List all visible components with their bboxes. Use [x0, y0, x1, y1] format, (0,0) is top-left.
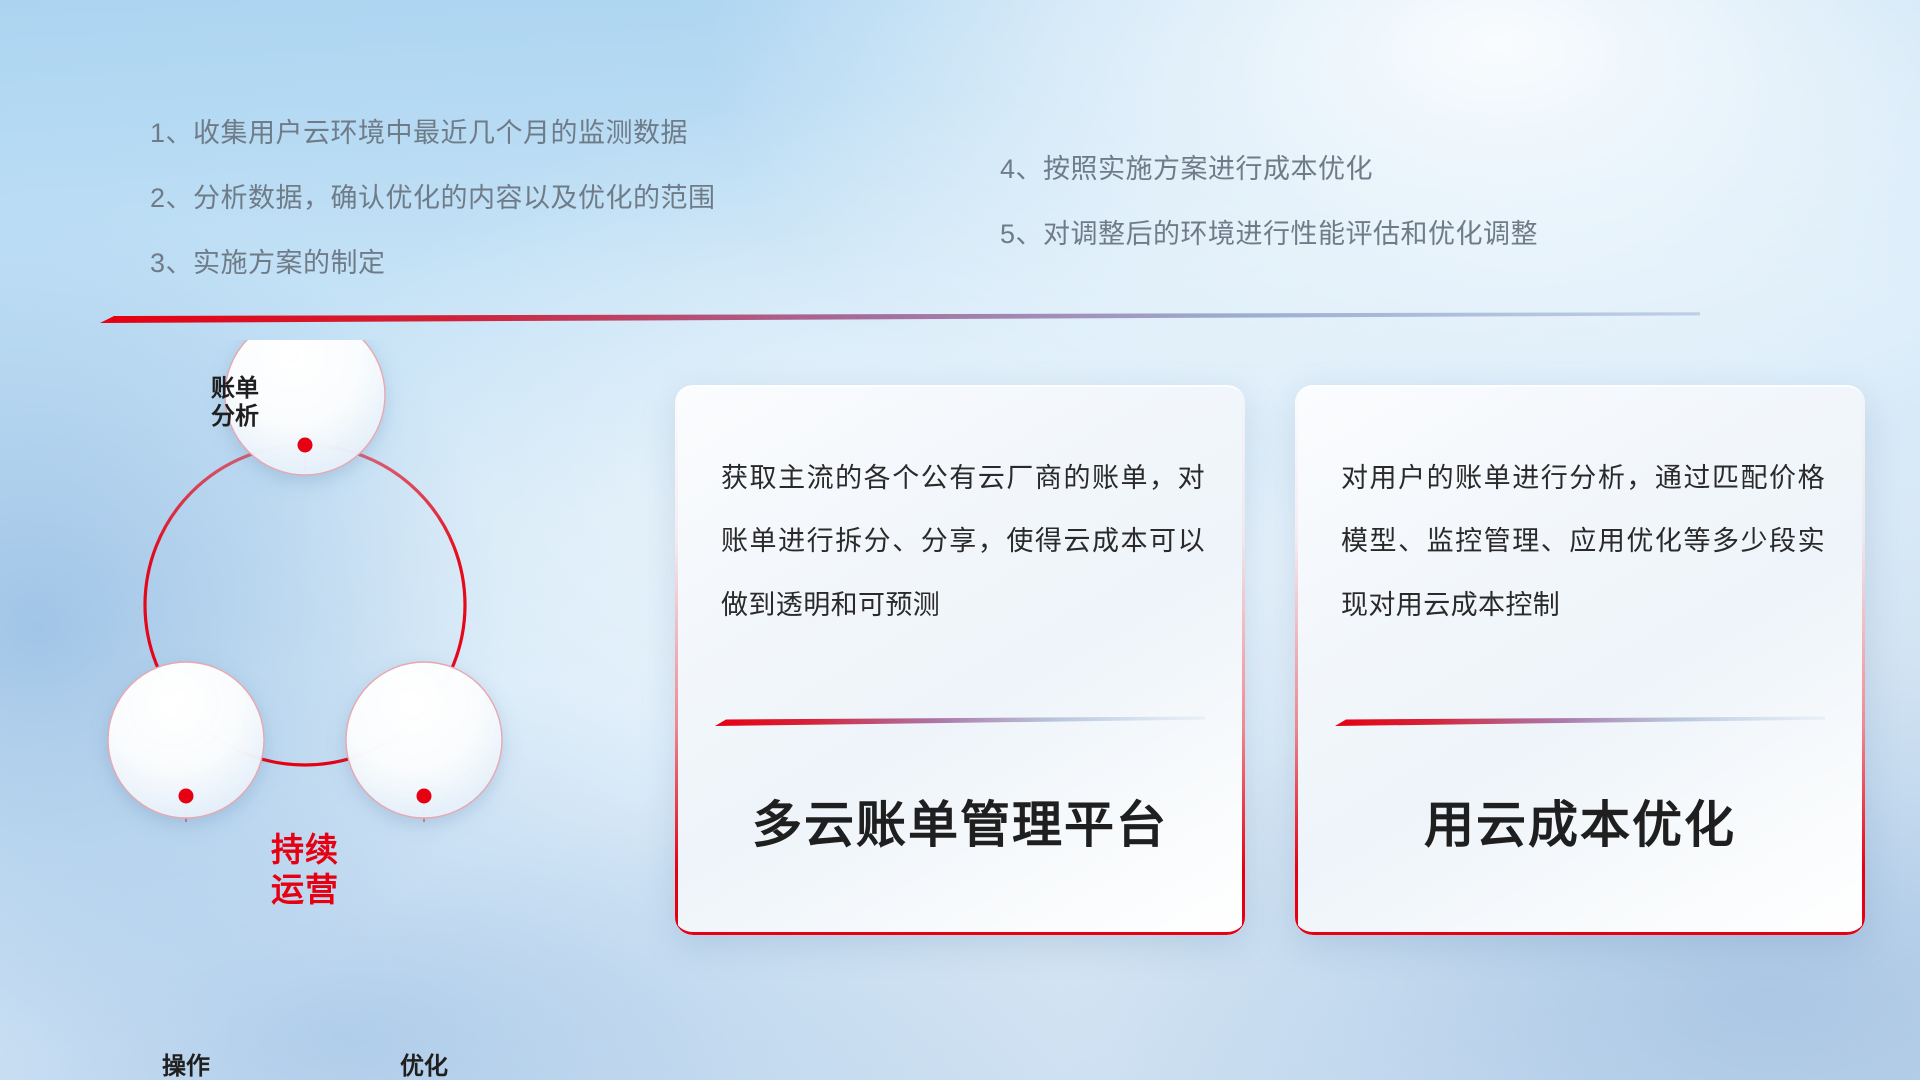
card-title: 用云成本优化	[1295, 785, 1865, 857]
venn-label-bottom-left: 操作 运营	[61, 1053, 311, 1080]
steps-left-column: 1、收集用户云环境中最近几个月的监测数据 2、分析数据，确认优化的内容以及优化的…	[150, 120, 716, 277]
card-body-text: 获取主流的各个公有云厂商的账单，对账单进行拆分、分享，使得云成本可以做到透明和可…	[721, 447, 1205, 637]
venn-dot-bottom-left	[179, 789, 194, 804]
card-multicloud-billing[interactable]: 获取主流的各个公有云厂商的账单，对账单进行拆分、分享，使得云成本可以做到透明和可…	[675, 385, 1245, 935]
step-item-1: 1、收集用户云环境中最近几个月的监测数据	[150, 120, 716, 147]
venn-diagram	[90, 340, 650, 970]
card-title: 多云账单管理平台	[675, 785, 1245, 857]
step-item-5: 5、对调整后的环境进行性能评估和优化调整	[1000, 221, 1538, 248]
step-item-4: 4、按照实施方案进行成本优化	[1000, 156, 1538, 183]
steps-right-column: 4、按照实施方案进行成本优化 5、对调整后的环境进行性能评估和优化调整	[1000, 156, 1538, 248]
card-body-text: 对用户的账单进行分析，通过匹配价格模型、监控管理、应用优化等多少段实现对用云成本…	[1341, 447, 1825, 637]
card-divider	[715, 715, 1205, 729]
step-item-2: 2、分析数据，确认优化的内容以及优化的范围	[150, 185, 716, 212]
step-item-3: 3、实施方案的制定	[150, 250, 716, 277]
venn-dot-bottom-right	[417, 789, 432, 804]
card-cloud-cost-optimization[interactable]: 对用户的账单进行分析，通过匹配价格模型、监控管理、应用优化等多少段实现对用云成本…	[1295, 385, 1865, 935]
header-divider	[100, 310, 1700, 326]
slide-canvas: 1、收集用户云环境中最近几个月的监测数据 2、分析数据，确认优化的内容以及优化的…	[0, 0, 1920, 1080]
card-divider	[1335, 715, 1825, 729]
venn-label-bottom-right: 优化 策略	[299, 1053, 549, 1080]
venn-dot-top	[298, 438, 313, 453]
